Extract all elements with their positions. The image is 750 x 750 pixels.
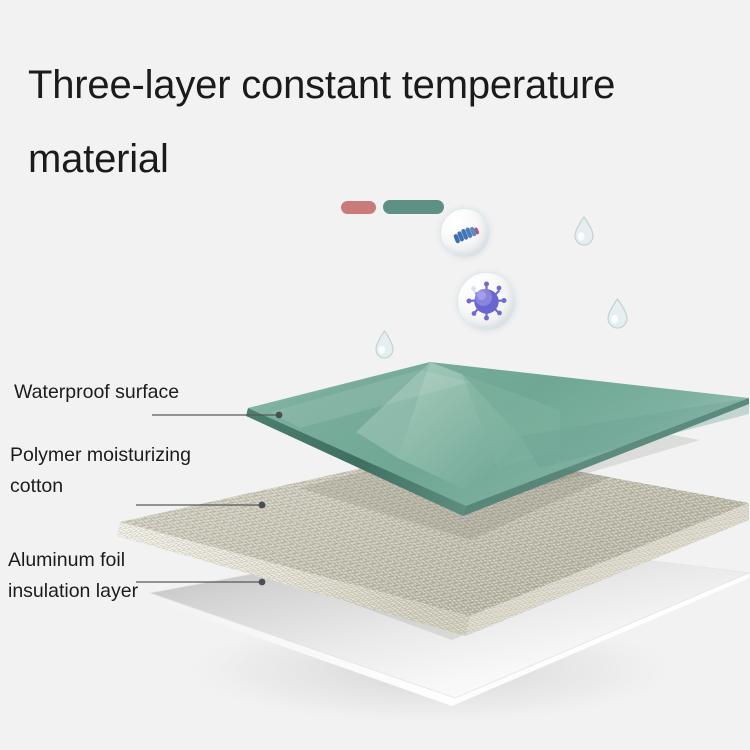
- label-polymer-line-2: cotton: [10, 471, 191, 502]
- page-title: Three-layer constant temperature materia…: [28, 48, 740, 196]
- label-aluminum-line-1: Aluminum foil: [8, 545, 138, 576]
- title-line-2: material: [28, 122, 740, 196]
- label-waterproof-line-1: Waterproof surface: [14, 377, 179, 408]
- teal-pill-marker-icon: [383, 200, 444, 214]
- label-aluminum-foil: Aluminum foil insulation layer: [8, 545, 138, 607]
- virus-in-bubble-icon: [457, 272, 516, 331]
- water-droplet-icon: [573, 216, 595, 246]
- label-polymer-line-1: Polymer moisturizing: [10, 440, 191, 471]
- label-aluminum-line-2: insulation layer: [8, 576, 138, 607]
- red-pill-marker-icon: [341, 201, 376, 214]
- label-polymer-cotton: Polymer moisturizing cotton: [10, 440, 191, 502]
- bacteria-in-bubble-icon: [440, 208, 490, 258]
- title-line-1: Three-layer constant temperature: [28, 48, 740, 122]
- infographic-canvas: Three-layer constant temperature materia…: [0, 0, 750, 750]
- water-droplet-icon: [606, 298, 629, 329]
- label-waterproof-surface: Waterproof surface: [14, 377, 179, 408]
